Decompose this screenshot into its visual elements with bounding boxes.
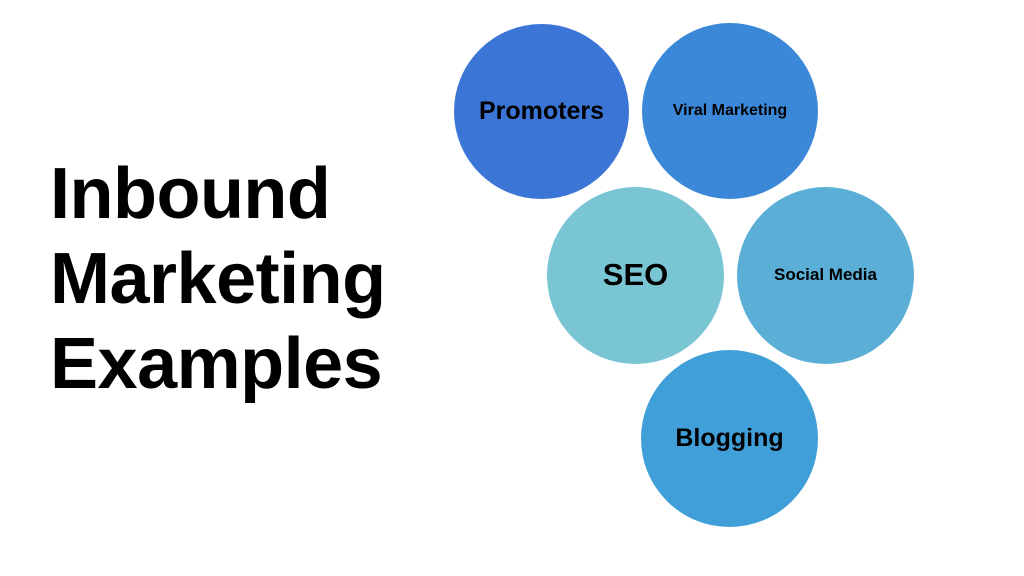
- bubble-label-social-media: Social Media: [768, 266, 883, 285]
- bubble-label-promoters: Promoters: [473, 98, 610, 126]
- bubble-viral-marketing[interactable]: Viral Marketing: [642, 23, 818, 199]
- bubble-promoters[interactable]: Promoters: [454, 24, 629, 199]
- bubble-seo[interactable]: SEO: [547, 187, 724, 364]
- bubble-label-blogging: Blogging: [669, 425, 789, 453]
- bubble-label-seo: SEO: [597, 258, 674, 292]
- bubble-cluster-diagram: Promoters Viral Marketing SEO Social Med…: [0, 0, 1024, 576]
- bubble-social-media[interactable]: Social Media: [737, 187, 914, 364]
- bubble-label-viral-marketing: Viral Marketing: [667, 102, 793, 120]
- bubble-blogging[interactable]: Blogging: [641, 350, 818, 527]
- slide-canvas: Inbound Marketing Examples Promoters Vir…: [0, 0, 1024, 576]
